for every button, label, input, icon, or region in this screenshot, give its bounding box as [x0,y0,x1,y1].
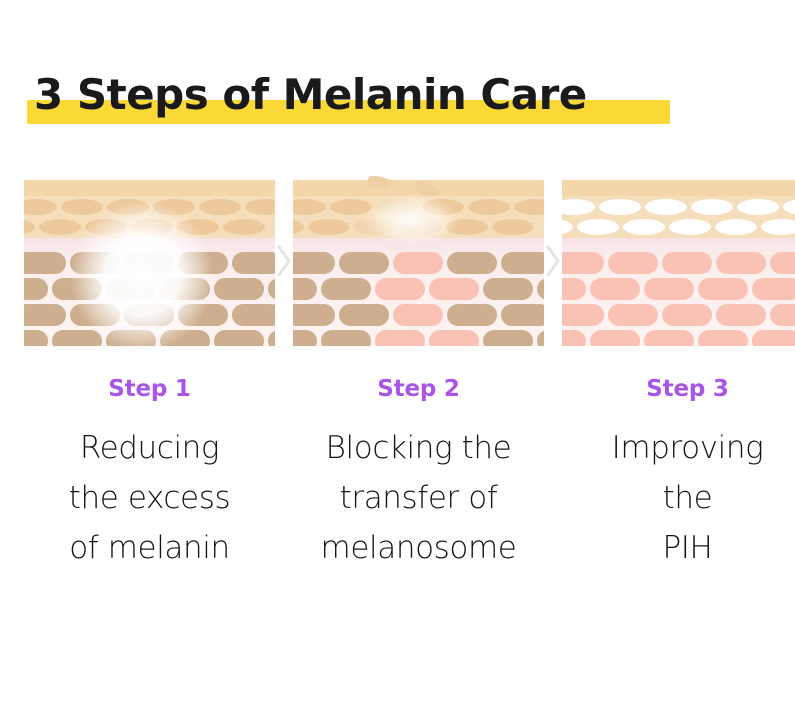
step-label-1: Step 1 [108,378,190,401]
skin-diagram-step-2 [293,176,544,346]
brick-row-1 [562,252,795,274]
brick-row-1 [293,252,544,274]
brick-row-2 [293,278,544,300]
infographic-root: 3 Steps of Melanin Care [0,0,795,707]
step-column-3: Step 3 Improving the PIH [562,176,795,573]
step-separator-1 [275,176,293,346]
surface-glow [363,194,459,246]
step-separator-2 [544,176,562,346]
chevron-right-icon [544,244,562,278]
step-label-3: Step 3 [646,378,728,401]
melanin-reduction-glow [70,200,214,346]
brick-row-4 [293,330,544,346]
step-column-1: Step 1 Reducing the excess of melanin [24,176,275,573]
desc-line: the [612,473,764,523]
chevron-right-icon [275,244,293,278]
title-text: 3 Steps of Melanin Care [34,64,587,126]
skin-cross-section-melanosome-blocking-svg [293,176,544,346]
brick-row-4 [562,330,795,346]
step-label-2: Step 2 [377,378,459,401]
desc-line: the excess [69,473,230,523]
desc-line: Blocking the [321,423,517,473]
step-description-3: Improving the PIH [612,423,764,573]
page-title: 3 Steps of Melanin Care [34,64,587,126]
brick-row-3 [562,304,795,326]
step-description-2: Blocking the transfer of melanosome [321,423,517,573]
brick-row-2 [562,278,795,300]
desc-line: PIH [612,523,764,573]
skin-diagram-step-1 [24,176,275,346]
steps-row: Step 1 Reducing the excess of melanin [0,176,795,573]
skin-cross-section-pih-improved-svg [562,176,795,346]
desc-line: Improving [612,423,764,473]
desc-line: Reducing [69,423,230,473]
step-description-1: Reducing the excess of melanin [69,423,230,573]
desc-line: transfer of [321,473,517,523]
skin-diagram-step-3 [562,176,795,346]
step-column-2: Step 2 Blocking the transfer of melanoso… [293,176,544,573]
skin-cross-section-melanin-reduction-svg [24,176,275,346]
desc-line: of melanin [69,523,230,573]
desc-line: melanosome [321,523,517,573]
brick-row-3 [293,304,544,326]
